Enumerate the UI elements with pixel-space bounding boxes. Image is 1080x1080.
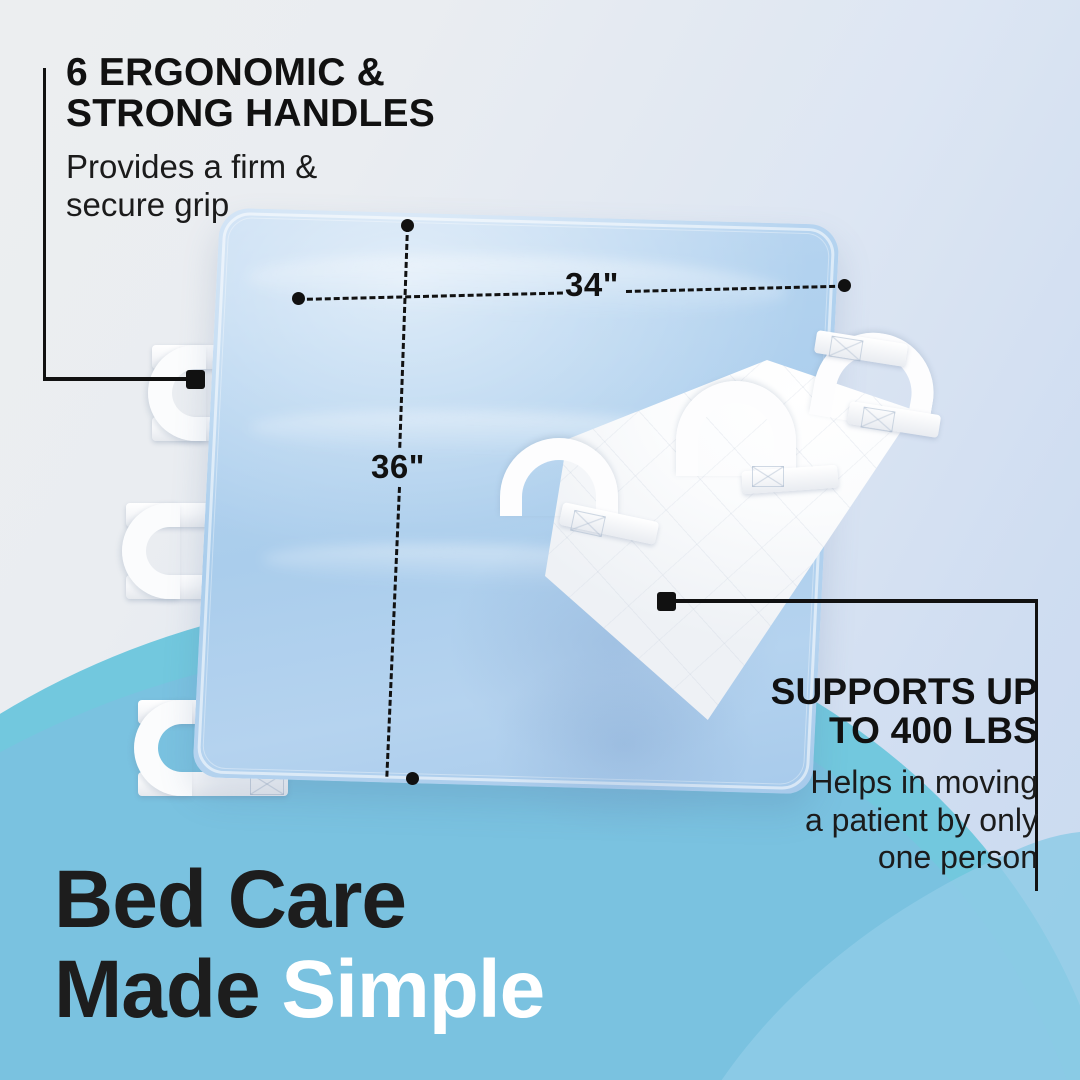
height-dimension-label: 36": [364, 450, 432, 483]
callout-right-sub-line1: Helps in moving: [700, 764, 1038, 801]
callout-left-vertical-rule: [43, 68, 46, 380]
headline-line2: Made Simple: [54, 948, 544, 1032]
width-dimension-label: 34": [558, 268, 626, 301]
callout-left-anchor-dot: [186, 370, 205, 389]
headline-line2-dark: Made: [54, 944, 281, 1035]
callout-right-title: SUPPORTS UP TO 400 LBS: [700, 672, 1038, 750]
headline: Bed Care Made Simple: [54, 858, 544, 1031]
callout-left-title-line2: STRONG HANDLES: [66, 93, 496, 134]
callout-left-leader-line: [43, 377, 195, 381]
callout-left-sub-line1: Provides a firm &: [66, 148, 496, 187]
callout-left: 6 ERGONOMIC & STRONG HANDLES Provides a …: [66, 52, 496, 225]
callout-right-sub-line2: a patient by only: [700, 802, 1038, 839]
callout-right-title-line2: TO 400 LBS: [700, 711, 1038, 750]
callout-left-title-line1: 6 ERGONOMIC &: [66, 52, 496, 93]
callout-left-sub-line2: secure grip: [66, 186, 496, 225]
headline-line1: Bed Care: [54, 858, 544, 942]
callout-right-leader-line: [672, 599, 1038, 603]
callout-left-subtitle: Provides a firm & secure grip: [66, 148, 496, 225]
promo-graphic: 34" 36" 6 ERGONOMIC & STRONG HANDLES Pro…: [0, 0, 1080, 1080]
callout-right-title-line1: SUPPORTS UP: [700, 672, 1038, 711]
width-dimension-endpoint-right: [838, 279, 851, 292]
callout-right-sub-line3: one person: [700, 839, 1038, 876]
callout-left-title: 6 ERGONOMIC & STRONG HANDLES: [66, 52, 496, 135]
height-dimension-endpoint-bottom: [406, 772, 419, 785]
callout-right: SUPPORTS UP TO 400 LBS Helps in moving a…: [700, 672, 1038, 877]
headline-line2-light: Simple: [281, 944, 544, 1035]
callout-right-subtitle: Helps in moving a patient by only one pe…: [700, 764, 1038, 876]
width-dimension-endpoint-left: [292, 292, 305, 305]
